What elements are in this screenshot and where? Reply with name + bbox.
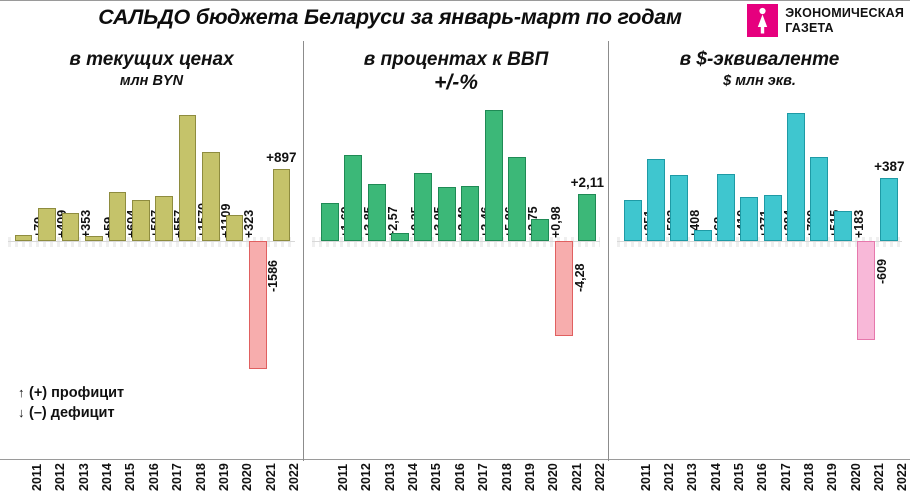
bar-2012[interactable]: +503 [647, 159, 665, 241]
bar-2012[interactable]: +3,85 [344, 155, 362, 241]
bar-2014[interactable]: +68 [694, 230, 712, 241]
year-label-2013: 2013 [383, 463, 397, 491]
bar-2015[interactable]: +604 [109, 192, 127, 241]
year-label-2015: 2015 [732, 463, 746, 491]
legend-deficit: ↓(–) дефицит [18, 403, 124, 423]
bar-value-label: +323 [242, 200, 260, 238]
year-label-2011: 2011 [30, 464, 44, 491]
logo-line-1: ЭКОНОМИЧЕСКАЯ [785, 6, 904, 21]
year-axis: 2011201220132014201520162017201820192020… [304, 437, 608, 497]
bar-value-label: +387 [864, 159, 910, 174]
brand-logo: ЭКОНОМИЧЕСКАЯ ГАЗЕТА [747, 4, 904, 37]
header: САЛЬДО бюджета Беларуси за январь-март п… [0, 1, 910, 41]
year-label-2022: 2022 [895, 463, 909, 491]
page-title: САЛЬДО бюджета Беларуси за январь-март п… [60, 5, 720, 30]
infographic-root: САЛЬДО бюджета Беларуси за январь-март п… [0, 0, 910, 460]
panel-current-prices: в текущих ценах млн BYN +79+409+353+59+6… [0, 41, 303, 461]
bar-2016[interactable]: +271 [740, 197, 758, 241]
bar-value-label: -4,28 [572, 246, 590, 292]
year-label-2022: 2022 [287, 463, 301, 491]
year-label-2022: 2022 [593, 463, 607, 491]
bar-2015[interactable]: +410 [717, 174, 735, 241]
bar-2022[interactable] [880, 178, 898, 241]
year-label-2014: 2014 [100, 463, 114, 491]
bar-2017[interactable]: +2,46 [461, 186, 479, 241]
bar-2019[interactable]: +1109 [202, 152, 220, 241]
bar-2015[interactable]: +3,05 [414, 173, 432, 241]
bar-value-label: +2,57 [385, 192, 403, 238]
bar-2018[interactable]: +5,86 [485, 110, 503, 241]
year-label-2012: 2012 [53, 463, 67, 491]
bar-value-label: +2,11 [562, 175, 612, 190]
bar-2019[interactable]: +3,75 [508, 157, 526, 241]
year-label-2011: 2011 [336, 464, 350, 491]
person-figure-icon [747, 4, 778, 37]
bar-2014[interactable]: +59 [85, 236, 103, 241]
bar-2022[interactable] [578, 194, 596, 241]
bar-group: +251+503+408+68+410+271+284+790+515+183-… [609, 41, 910, 461]
bar-2021[interactable]: -609 [857, 241, 875, 340]
bar-2011[interactable]: +1,69 [321, 203, 339, 241]
year-label-2013: 2013 [77, 463, 91, 491]
year-label-2018: 2018 [194, 463, 208, 491]
year-label-2018: 2018 [802, 463, 816, 491]
year-label-2015: 2015 [123, 463, 137, 491]
bar-2022[interactable] [273, 169, 291, 241]
year-label-2015: 2015 [429, 463, 443, 491]
year-label-2016: 2016 [147, 463, 161, 491]
up-arrow-icon: ↑ [18, 383, 29, 402]
year-label-2011: 2011 [639, 464, 653, 491]
bar-2016[interactable]: +2,40 [438, 187, 456, 241]
legend-surplus: ↑(+) профицит [18, 383, 124, 403]
panel-usd-equivalent: в $-эквиваленте $ млн экв. +251+503+408+… [608, 41, 910, 461]
bar-2021[interactable]: -4,28 [555, 241, 573, 336]
year-label-2021: 2021 [264, 463, 278, 491]
year-axis: 2011201220132014201520162017201820192020… [609, 437, 910, 497]
year-label-2019: 2019 [825, 463, 839, 491]
legend-deficit-label: (–) дефицит [29, 405, 115, 421]
year-label-2020: 2020 [546, 463, 560, 491]
year-label-2016: 2016 [755, 463, 769, 491]
logo-text: ЭКОНОМИЧЕСКАЯ ГАЗЕТА [785, 6, 904, 35]
bar-2020[interactable]: +0,98 [531, 219, 549, 241]
plot-area: +1,69+3,85+2,57+0,35+3,05+2,40+2,46+5,86… [304, 41, 608, 461]
year-label-2017: 2017 [476, 463, 490, 491]
year-label-2016: 2016 [453, 463, 467, 491]
year-label-2013: 2013 [685, 463, 699, 491]
plot-area: +251+503+408+68+410+271+284+790+515+183-… [609, 41, 910, 461]
year-label-2020: 2020 [849, 463, 863, 491]
bar-2013[interactable]: +2,57 [368, 184, 386, 241]
bar-value-label: +183 [851, 200, 869, 238]
bar-2018[interactable]: +1570 [179, 115, 197, 241]
year-label-2018: 2018 [500, 463, 514, 491]
bar-2016[interactable]: +507 [132, 200, 150, 241]
year-label-2020: 2020 [240, 463, 254, 491]
bar-2011[interactable]: +251 [624, 200, 642, 241]
bar-2020[interactable]: +323 [226, 215, 244, 241]
bar-2018[interactable]: +790 [787, 113, 805, 241]
legend-surplus-label: (+) профицит [29, 385, 124, 401]
chart-panels: в текущих ценах млн BYN +79+409+353+59+6… [0, 41, 910, 461]
bar-group: +1,69+3,85+2,57+0,35+3,05+2,40+2,46+5,86… [304, 41, 608, 461]
down-arrow-icon: ↓ [18, 403, 29, 422]
year-label-2021: 2021 [570, 463, 584, 491]
bar-value-label: +897 [257, 150, 307, 165]
bar-2021[interactable]: -1586 [249, 241, 267, 369]
bar-2017[interactable]: +284 [764, 195, 782, 241]
panel-percent-gdp: в процентах к ВВП +/-% +1,69+3,85+2,57+0… [303, 41, 608, 461]
year-label-2019: 2019 [217, 463, 231, 491]
year-label-2019: 2019 [523, 463, 537, 491]
year-label-2014: 2014 [406, 463, 420, 491]
bar-2013[interactable]: +408 [670, 175, 688, 241]
bar-2013[interactable]: +353 [62, 213, 80, 241]
bar-2017[interactable]: +557 [155, 196, 173, 241]
bar-2020[interactable]: +183 [834, 211, 852, 241]
logo-line-2: ГАЗЕТА [785, 21, 904, 36]
bar-value-label: +353 [79, 200, 97, 238]
bar-value-label: +0,98 [548, 192, 566, 238]
year-label-2021: 2021 [872, 463, 886, 491]
year-label-2012: 2012 [359, 463, 373, 491]
year-label-2017: 2017 [170, 463, 184, 491]
bar-2012[interactable]: +409 [38, 208, 56, 241]
legend: ↑(+) профицит ↓(–) дефицит [18, 383, 124, 423]
bar-2019[interactable]: +515 [810, 157, 828, 241]
bar-2011[interactable]: +79 [15, 235, 33, 241]
bar-value-label: -609 [874, 246, 892, 284]
bar-2014[interactable]: +0,35 [391, 233, 409, 241]
year-label-2017: 2017 [779, 463, 793, 491]
year-axis: 2011201220132014201520162017201820192020… [0, 437, 303, 497]
year-label-2014: 2014 [709, 463, 723, 491]
year-label-2012: 2012 [662, 463, 676, 491]
bar-value-label: -1586 [266, 246, 284, 292]
